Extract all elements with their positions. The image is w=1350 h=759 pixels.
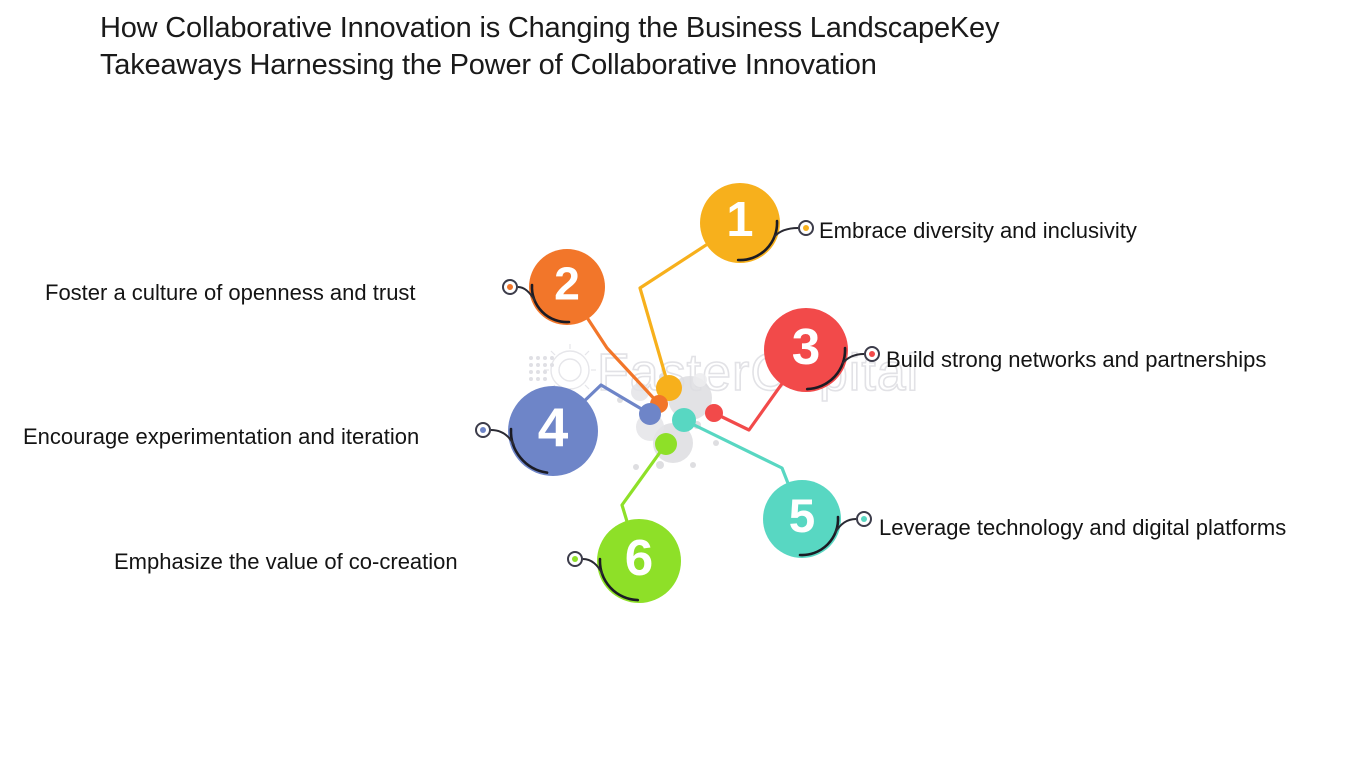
marker-dot-5 (861, 516, 867, 522)
connector-line-5 (684, 420, 788, 485)
callout-label-1: Embrace diversity and inclusivity (819, 217, 1137, 245)
radial-diagram: FasterCapital 123456 (0, 0, 1350, 759)
callout-label-4: Encourage experimentation and iteration (23, 423, 419, 451)
marker-dot-1 (803, 225, 809, 231)
infographic-page: How Collaborative Innovation is Changing… (0, 0, 1350, 759)
decor-circle (633, 464, 639, 470)
decor-circle (656, 461, 664, 469)
connector-line-6 (622, 444, 666, 523)
bubble-3[interactable]: 3 (764, 308, 848, 392)
bubble-1[interactable]: 1 (700, 183, 780, 263)
hub-dot-6 (655, 433, 677, 455)
bubble-4[interactable]: 4 (508, 386, 598, 476)
bubble-number-2: 2 (554, 258, 580, 310)
callout-label-6: Emphasize the value of co-creation (114, 548, 458, 576)
hub-dot-4 (639, 403, 661, 425)
marker-dot-4 (480, 427, 486, 433)
marker-dot-2 (507, 284, 513, 290)
bubble-5[interactable]: 5 (763, 480, 841, 558)
decor-circle (690, 462, 696, 468)
bubble-number-5: 5 (789, 490, 815, 543)
callout-label-2: Foster a culture of openness and trust (45, 279, 416, 307)
decor-circle (713, 440, 719, 446)
bubble-number-4: 4 (538, 396, 569, 458)
bubble-6[interactable]: 6 (597, 519, 681, 603)
callout-label-5: Leverage technology and digital platform… (879, 514, 1286, 542)
bubble-2[interactable]: 2 (529, 249, 605, 325)
marker-dot-3 (869, 351, 875, 357)
decor-circle (693, 373, 707, 387)
watermark: FasterCapital (529, 344, 919, 402)
marker-dot-6 (572, 556, 578, 562)
bubble-number-3: 3 (792, 318, 821, 375)
callout-label-3: Build strong networks and partnerships (886, 346, 1266, 374)
bubble-number-6: 6 (625, 529, 654, 586)
hub-dot-5 (672, 408, 696, 432)
bubble-number-1: 1 (726, 193, 753, 247)
hub-dot-3 (705, 404, 723, 422)
